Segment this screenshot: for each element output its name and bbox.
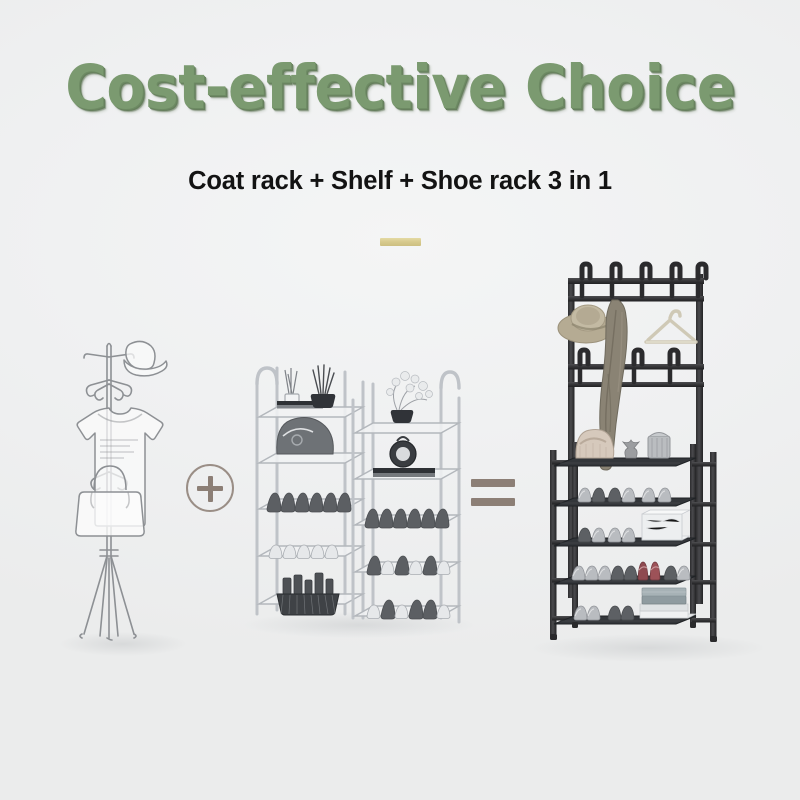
plus-operator-icon bbox=[186, 464, 234, 512]
product-shelf-rack bbox=[247, 332, 469, 630]
page-title: Cost-effective Choice bbox=[28, 53, 772, 123]
product-combo-rack bbox=[538, 254, 756, 654]
page-subtitle: Coat rack + Shelf + Shoe rack 3 in 1 bbox=[0, 165, 800, 197]
product-coat-rack bbox=[62, 322, 182, 650]
equals-operator-icon bbox=[471, 479, 515, 506]
poster-canvas: Cost-effective Choice Coat rack + Shelf … bbox=[0, 0, 800, 800]
divider-bar bbox=[380, 238, 421, 246]
